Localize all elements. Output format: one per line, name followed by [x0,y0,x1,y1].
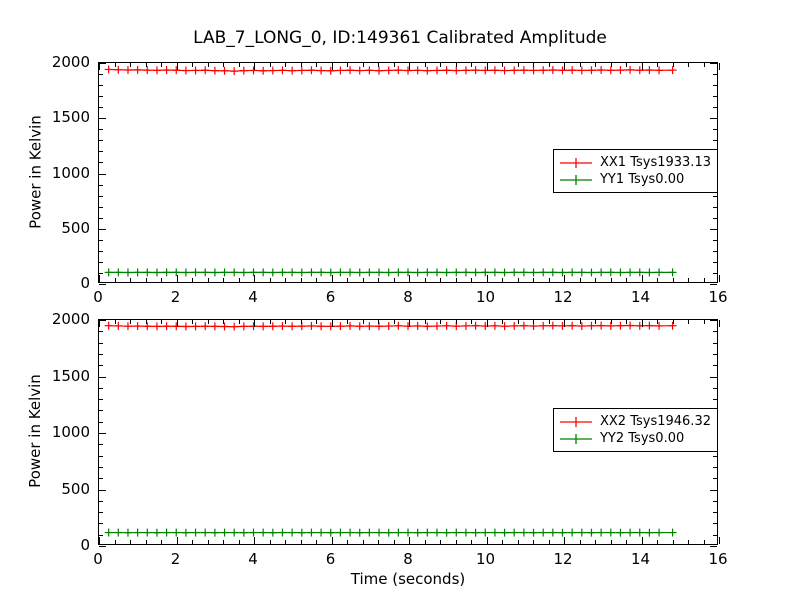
y-tick-minor [713,512,717,513]
x-tick-minor [301,278,302,282]
y-tick-major [99,63,106,64]
x-tick-minor [130,278,131,282]
x-tick-minor [378,540,379,544]
x-tick-major [254,320,255,327]
x-tick-label: 2 [171,288,181,306]
y-tick-minor [713,96,717,97]
x-tick-major [332,63,333,70]
x-tick-minor [161,63,162,67]
x-tick-minor [549,540,550,544]
y-tick-major [710,118,717,119]
legend-marker-icon [559,173,593,187]
chart-panel-top[interactable]: XX1 Tsys1933.13YY1 Tsys0.00 [98,62,718,283]
x-tick-minor [518,540,519,544]
y-tick-major [710,284,717,285]
y-tick-minor [99,501,103,502]
x-tick-major [642,537,643,544]
x-tick-minor [549,63,550,67]
x-tick-minor [316,278,317,282]
x-tick-label: 6 [326,288,336,306]
x-tick-major [564,63,565,70]
x-tick-major [409,63,410,70]
legend-label: YY2 Tsys0.00 [600,432,684,446]
x-tick-major [99,275,100,282]
x-tick-major [564,537,565,544]
x-tick-minor [394,320,395,324]
x-tick-minor [270,278,271,282]
y-tick-minor [99,388,103,389]
x-tick-minor [223,63,224,67]
x-tick-label: 8 [403,550,413,568]
y-tick-label: 500 [40,480,90,498]
y-tick-minor [713,456,717,457]
y-tick-major [99,284,106,285]
x-tick-minor [580,63,581,67]
x-tick-minor [394,278,395,282]
x-tick-major [177,320,178,327]
y-tick-minor [713,523,717,524]
x-tick-minor [130,540,131,544]
y-tick-minor [713,273,717,274]
x-tick-minor [626,63,627,67]
y-tick-major [99,174,106,175]
x-tick-minor [626,540,627,544]
y-tick-minor [713,85,717,86]
x-tick-minor [301,320,302,324]
x-tick-minor [192,63,193,67]
x-tick-minor [502,278,503,282]
y-tick-minor [99,240,103,241]
x-tick-minor [146,320,147,324]
x-tick-minor [285,320,286,324]
x-tick-minor [471,63,472,67]
x-tick-major [719,63,720,70]
x-tick-minor [657,63,658,67]
x-tick-label: 16 [708,550,727,568]
x-tick-minor [363,320,364,324]
x-tick-minor [363,63,364,67]
y-tick-minor [713,388,717,389]
x-tick-minor [285,278,286,282]
x-tick-minor [456,540,457,544]
x-tick-label: 10 [476,550,495,568]
x-tick-major [177,537,178,544]
y-tick-label: 1000 [40,164,90,182]
y-tick-minor [713,535,717,536]
x-tick-minor [239,278,240,282]
y-tick-minor [99,162,103,163]
x-tick-major [719,320,720,327]
y-tick-minor [713,354,717,355]
legend-entry[interactable]: XX1 Tsys1933.13 [559,154,711,171]
x-tick-major [487,275,488,282]
x-tick-major [487,320,488,327]
x-tick-major [409,275,410,282]
x-tick-minor [626,278,627,282]
x-tick-minor [146,278,147,282]
y-tick-major [99,490,106,491]
x-tick-minor [192,540,193,544]
x-tick-minor [440,540,441,544]
y-tick-minor [713,140,717,141]
x-tick-minor [161,540,162,544]
y-tick-minor [99,185,103,186]
y-tick-label: 1000 [40,423,90,441]
x-tick-minor [704,63,705,67]
y-tick-label: 1500 [40,108,90,126]
x-tick-minor [316,63,317,67]
legend-entry[interactable]: XX2 Tsys1946.32 [559,413,711,430]
y-tick-minor [713,365,717,366]
y-tick-minor [99,512,103,513]
x-tick-minor [239,320,240,324]
x-tick-minor [223,320,224,324]
x-tick-minor [316,320,317,324]
x-tick-minor [657,540,658,544]
x-tick-minor [471,278,472,282]
y-tick-major [99,320,106,321]
x-axis-label: Time (seconds) [98,570,718,588]
y-tick-minor [99,273,103,274]
x-tick-major [487,63,488,70]
y-tick-label: 0 [40,274,90,292]
x-tick-minor [363,540,364,544]
x-tick-minor [347,278,348,282]
y-tick-minor [713,129,717,130]
x-tick-minor [130,320,131,324]
chart-panel-bottom[interactable]: XX2 Tsys1946.32YY2 Tsys0.00 [98,319,718,545]
y-tick-minor [99,410,103,411]
x-tick-minor [688,63,689,67]
x-tick-major [99,537,100,544]
x-tick-minor [533,540,534,544]
x-tick-minor [161,320,162,324]
x-tick-minor [394,540,395,544]
y-tick-minor [713,251,717,252]
x-tick-minor [688,320,689,324]
x-tick-minor [394,63,395,67]
y-tick-minor [713,74,717,75]
x-tick-label: 4 [248,288,258,306]
x-tick-label: 8 [403,288,413,306]
x-tick-label: 14 [631,288,650,306]
x-tick-minor [704,320,705,324]
x-tick-minor [285,63,286,67]
y-tick-minor [99,523,103,524]
x-tick-minor [425,278,426,282]
y-tick-major [710,377,717,378]
x-tick-minor [347,63,348,67]
y-tick-label: 0 [40,536,90,554]
x-tick-major [99,320,100,327]
y-tick-minor [99,399,103,400]
y-tick-minor [713,107,717,108]
legend-label: XX1 Tsys1933.13 [600,156,711,170]
x-tick-minor [626,320,627,324]
y-tick-minor [713,399,717,400]
x-tick-major [487,537,488,544]
x-tick-major [99,63,100,70]
x-tick-minor [580,320,581,324]
x-tick-minor [657,278,658,282]
page-title: LAB_7_LONG_0, ID:149361 Calibrated Ampli… [0,28,800,48]
legend-top[interactable]: XX1 Tsys1933.13YY1 Tsys0.00 [553,149,718,193]
x-tick-minor [115,320,116,324]
x-tick-minor [471,320,472,324]
x-tick-minor [285,540,286,544]
x-tick-minor [502,320,503,324]
x-tick-minor [611,278,612,282]
x-tick-major [719,537,720,544]
x-tick-minor [223,540,224,544]
y-tick-minor [99,251,103,252]
x-tick-minor [611,320,612,324]
y-tick-minor [713,343,717,344]
x-tick-minor [270,540,271,544]
x-tick-minor [533,320,534,324]
x-tick-major [332,537,333,544]
x-tick-minor [471,540,472,544]
x-tick-minor [549,320,550,324]
x-tick-minor [595,278,596,282]
y-tick-major [710,229,717,230]
x-tick-major [254,275,255,282]
x-tick-minor [115,63,116,67]
x-tick-major [332,275,333,282]
x-tick-minor [518,63,519,67]
y-tick-minor [99,196,103,197]
x-tick-major [642,63,643,70]
x-tick-minor [595,540,596,544]
legend-bottom[interactable]: XX2 Tsys1946.32YY2 Tsys0.00 [553,408,718,452]
y-tick-major [710,490,717,491]
x-tick-minor [208,320,209,324]
x-tick-minor [595,63,596,67]
y-tick-minor [99,331,103,332]
x-tick-minor [673,63,674,67]
y-tick-minor [99,85,103,86]
x-tick-minor [657,320,658,324]
x-tick-minor [595,320,596,324]
x-tick-minor [425,63,426,67]
x-tick-minor [673,278,674,282]
y-tick-minor [99,218,103,219]
x-tick-minor [301,540,302,544]
y-tick-major [99,433,106,434]
x-tick-minor [533,63,534,67]
y-tick-minor [99,96,103,97]
x-tick-minor [688,540,689,544]
y-tick-label: 2000 [40,310,90,328]
x-tick-minor [580,278,581,282]
y-tick-minor [99,478,103,479]
x-tick-minor [688,278,689,282]
y-tick-major [710,320,717,321]
x-tick-minor [301,63,302,67]
y-tick-label: 2000 [40,53,90,71]
y-tick-minor [713,218,717,219]
x-tick-minor [673,540,674,544]
x-tick-minor [239,540,240,544]
x-tick-minor [316,540,317,544]
legend-marker-icon [559,156,593,170]
y-tick-minor [99,467,103,468]
y-tick-minor [713,501,717,502]
matplotlib-figure: LAB_7_LONG_0, ID:149361 Calibrated Ampli… [0,0,800,600]
legend-marker-icon [559,415,593,429]
y-tick-major [710,546,717,547]
x-tick-minor [456,63,457,67]
y-tick-minor [713,467,717,468]
x-tick-major [177,275,178,282]
y-tick-label: 1500 [40,367,90,385]
x-tick-minor [704,278,705,282]
legend-marker-icon [559,432,593,446]
y-tick-minor [713,196,717,197]
y-tick-minor [713,478,717,479]
x-tick-minor [146,540,147,544]
legend-entry[interactable]: YY2 Tsys0.00 [559,430,711,447]
x-tick-minor [425,540,426,544]
x-tick-minor [363,278,364,282]
y-axis-label-bottom: Power in Kelvin [26,318,44,544]
x-tick-minor [611,540,612,544]
x-tick-minor [440,278,441,282]
x-tick-minor [456,278,457,282]
y-tick-minor [99,354,103,355]
y-tick-minor [99,107,103,108]
y-tick-minor [99,129,103,130]
x-tick-major [564,275,565,282]
x-tick-minor [347,320,348,324]
y-tick-minor [713,262,717,263]
legend-entry[interactable]: YY1 Tsys0.00 [559,171,711,188]
x-tick-minor [270,320,271,324]
x-tick-minor [518,278,519,282]
y-tick-minor [713,207,717,208]
y-tick-major [99,377,106,378]
x-tick-minor [425,320,426,324]
legend-label: XX2 Tsys1946.32 [600,415,711,429]
x-tick-minor [440,63,441,67]
x-tick-minor [208,540,209,544]
x-tick-minor [115,540,116,544]
x-tick-minor [518,320,519,324]
x-tick-label: 14 [631,550,650,568]
y-tick-minor [99,74,103,75]
x-tick-minor [704,540,705,544]
x-tick-minor [673,320,674,324]
x-tick-minor [161,278,162,282]
y-tick-major [99,229,106,230]
x-tick-major [409,320,410,327]
x-tick-minor [192,278,193,282]
y-tick-minor [99,207,103,208]
x-tick-major [254,63,255,70]
x-tick-minor [580,540,581,544]
x-tick-minor [239,63,240,67]
x-tick-minor [378,63,379,67]
y-tick-minor [99,365,103,366]
x-tick-minor [208,278,209,282]
x-tick-major [177,63,178,70]
x-tick-label: 12 [553,288,572,306]
x-tick-minor [347,540,348,544]
x-tick-minor [192,320,193,324]
x-tick-label: 10 [476,288,495,306]
x-tick-minor [502,63,503,67]
legend-label: YY1 Tsys0.00 [600,173,684,187]
x-tick-major [642,275,643,282]
x-tick-label: 4 [248,550,258,568]
x-tick-label: 16 [708,288,727,306]
x-tick-minor [456,320,457,324]
y-axis-label-top: Power in Kelvin [26,61,44,282]
x-tick-major [409,537,410,544]
x-tick-minor [130,63,131,67]
x-tick-minor [270,63,271,67]
x-tick-minor [146,63,147,67]
y-tick-minor [713,240,717,241]
y-tick-minor [99,444,103,445]
x-tick-minor [378,320,379,324]
x-tick-major [332,320,333,327]
x-tick-minor [223,278,224,282]
x-tick-minor [502,540,503,544]
x-tick-major [254,537,255,544]
x-tick-minor [611,63,612,67]
x-tick-major [564,320,565,327]
y-tick-minor [99,422,103,423]
y-tick-major [710,63,717,64]
x-tick-label: 12 [553,550,572,568]
y-tick-minor [99,151,103,152]
y-tick-minor [99,343,103,344]
x-tick-major [642,320,643,327]
x-tick-label: 6 [326,550,336,568]
x-tick-minor [208,63,209,67]
y-tick-major [99,118,106,119]
x-tick-minor [115,278,116,282]
y-tick-minor [99,535,103,536]
y-tick-label: 500 [40,219,90,237]
y-tick-minor [713,331,717,332]
x-tick-label: 2 [171,550,181,568]
x-tick-label: 0 [93,550,103,568]
y-tick-minor [99,456,103,457]
y-tick-minor [99,140,103,141]
x-tick-minor [378,278,379,282]
x-tick-label: 0 [93,288,103,306]
y-tick-minor [99,262,103,263]
x-tick-major [719,275,720,282]
x-tick-minor [549,278,550,282]
y-tick-major [99,546,106,547]
x-tick-minor [533,278,534,282]
x-tick-minor [440,320,441,324]
